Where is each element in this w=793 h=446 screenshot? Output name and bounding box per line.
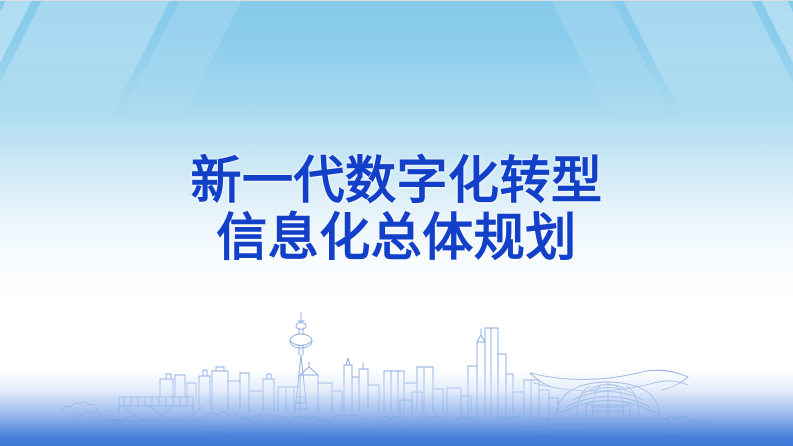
diagonal-light-streaks-left	[0, 1, 330, 121]
diagonal-light-streaks-right	[463, 1, 793, 121]
presentation-slide: 新一代数字化转型 信息化总体规划	[0, 0, 793, 446]
title-line-primary: 新一代数字化转型	[0, 153, 793, 208]
slide-title: 新一代数字化转型 信息化总体规划	[0, 153, 793, 265]
title-line-secondary: 信息化总体规划	[0, 210, 793, 265]
ground-gradient	[0, 370, 793, 446]
